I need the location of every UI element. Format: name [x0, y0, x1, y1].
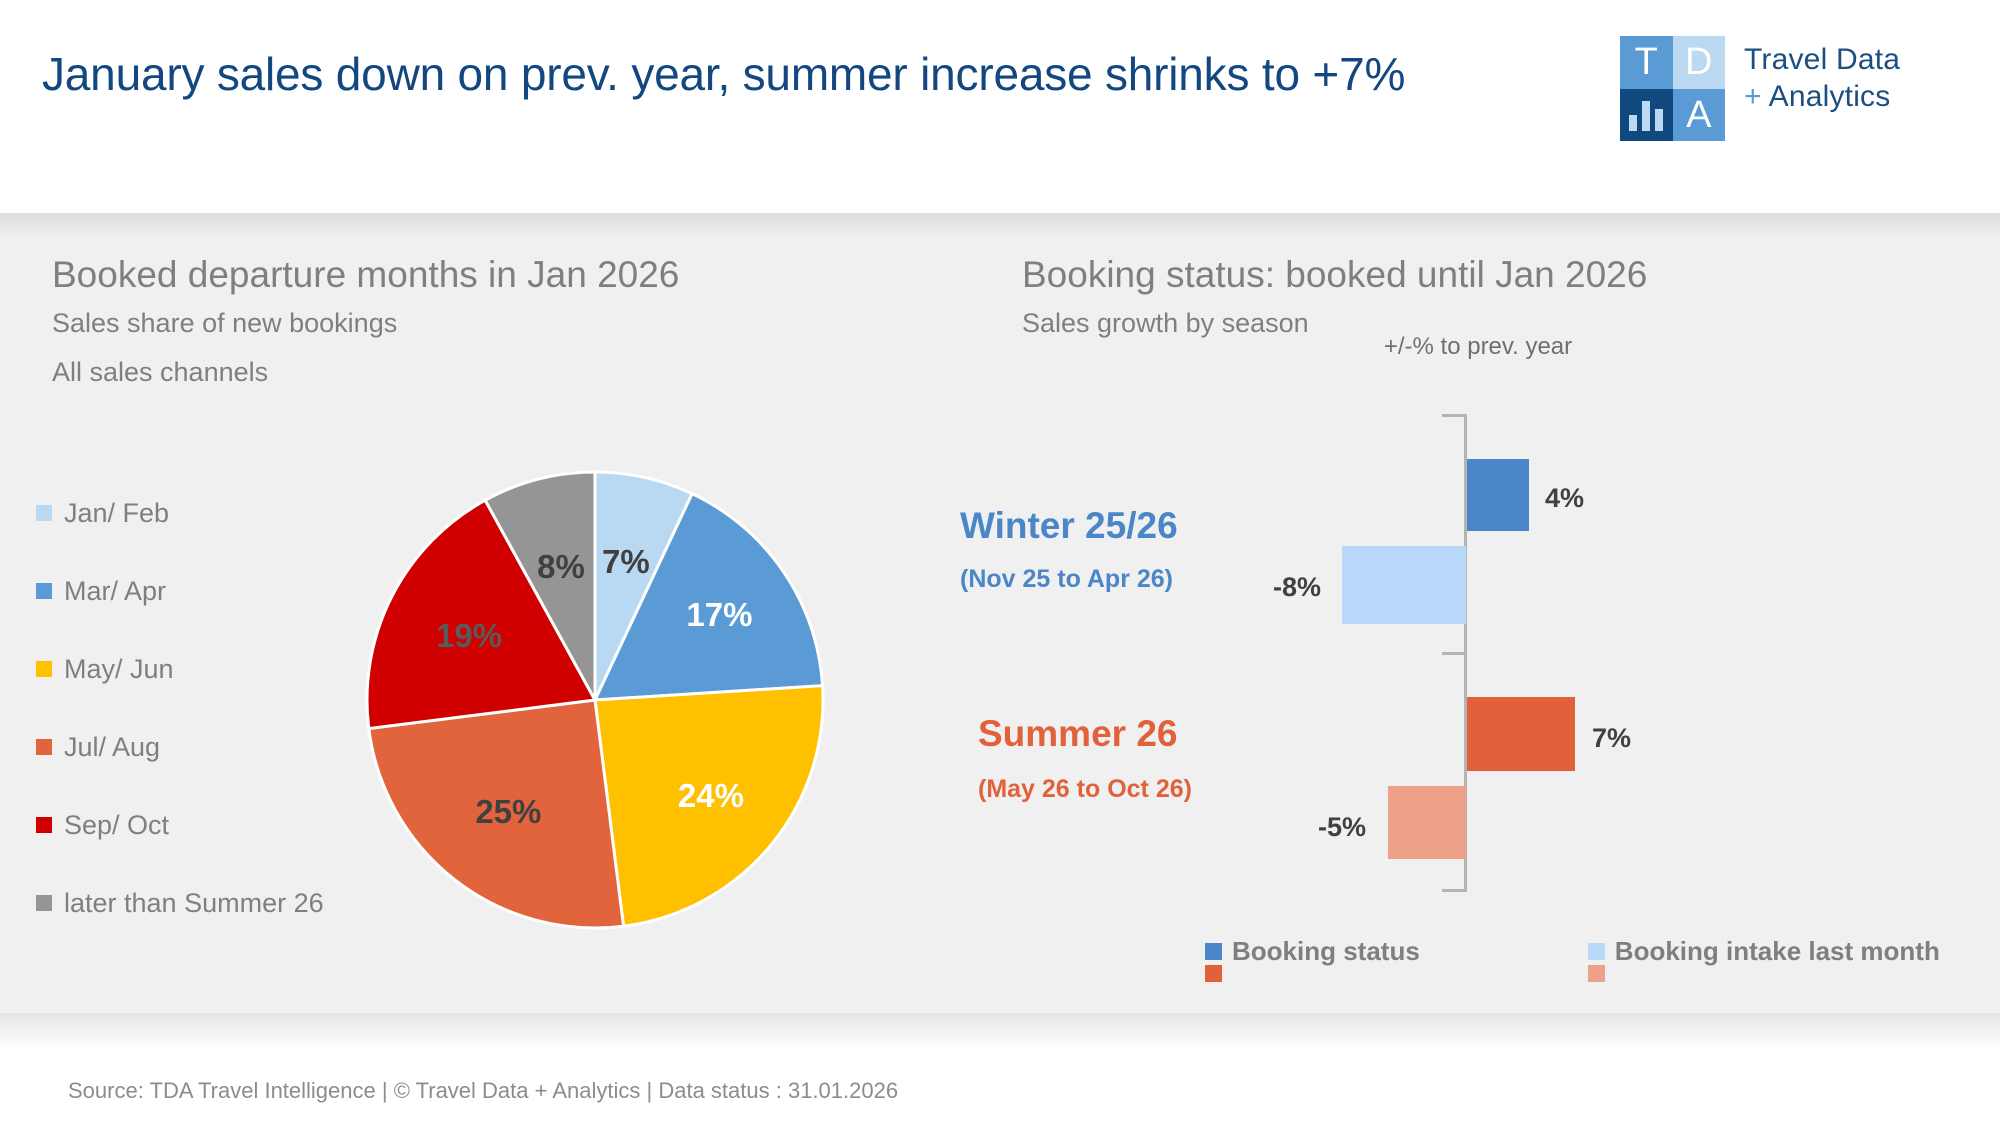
pie-slice-label: 25%: [475, 793, 541, 831]
bar-legend-item-intake-last-month[interactable]: Booking intake last month: [1588, 938, 1940, 982]
panel-top-shadow: [0, 213, 2000, 239]
page-header: January sales down on prev. year, summer…: [0, 0, 2000, 213]
pie-legend-item[interactable]: later than Summer 26: [36, 890, 324, 916]
season-label-summer: Summer 26: [978, 713, 1178, 755]
pie-legend-label: Sep/ Oct: [64, 812, 169, 839]
bar-legend-label: Booking status: [1232, 938, 1420, 965]
right-chart-title: Booking status: booked until Jan 2026: [1022, 254, 1647, 296]
legend-swatch-icon: [36, 505, 52, 521]
logo-cell-chart: [1620, 89, 1673, 142]
axis-tick-bottom: [1442, 889, 1464, 892]
legend-swatch-icon: [36, 661, 52, 677]
left-chart-subtitle-2: All sales channels: [52, 357, 268, 388]
pie-legend-label: May/ Jun: [64, 656, 174, 683]
right-chart-subtitle: Sales growth by season: [1022, 308, 1309, 339]
logo-line-2-text: Analytics: [1762, 80, 1891, 113]
bar-legend-label: Booking intake last month: [1615, 938, 1940, 965]
logo-cell-a: A: [1673, 89, 1726, 142]
axis-tick-middle: [1442, 652, 1464, 655]
logo-plus-sign: +: [1744, 80, 1762, 113]
pie-slice-label: 8%: [537, 548, 585, 586]
company-logo: T D A Travel Data + Analytics: [1620, 36, 1980, 146]
bar-winter-intake-last-month[interactable]: [1342, 546, 1466, 624]
bar-value-winter-booking-status: 4%: [1545, 483, 1584, 514]
pie-legend-item[interactable]: Sep/ Oct: [36, 812, 324, 838]
logo-letter-a: A: [1686, 96, 1711, 134]
pie-legend-item[interactable]: Jan/ Feb: [36, 500, 324, 526]
axis-unit-label: +/-% to prev. year: [1384, 333, 1572, 361]
pie-legend-label: Mar/ Apr: [64, 578, 166, 605]
legend-swatch-icon: [36, 583, 52, 599]
logo-tile-grid: T D A: [1620, 36, 1725, 141]
logo-letter-t: T: [1635, 43, 1658, 81]
pie-legend-item[interactable]: Jul/ Aug: [36, 734, 324, 760]
pie-slice-label: 7%: [602, 543, 650, 581]
pie-legend-label: Jul/ Aug: [64, 734, 160, 761]
axis-tick-top: [1442, 414, 1464, 417]
logo-cell-d: D: [1673, 36, 1726, 89]
bar-legend-item-booking-status[interactable]: Booking status: [1205, 938, 1420, 982]
logo-letter-d: D: [1685, 43, 1712, 81]
pie-legend-item[interactable]: May/ Jun: [36, 656, 324, 682]
pie-slice-label: 24%: [678, 777, 744, 815]
bar-summer-booking-status[interactable]: [1467, 697, 1575, 771]
bar-winter-booking-status[interactable]: [1467, 459, 1529, 531]
bar-summer-intake-last-month[interactable]: [1388, 786, 1466, 859]
bar-value-winter-intake-last-month: -8%: [1273, 572, 1321, 603]
legend-swatch-icon: [36, 739, 52, 755]
pie-slice-label: 17%: [686, 596, 752, 634]
season-range-winter: (Nov 25 to Apr 26): [960, 565, 1173, 594]
legend-swatch-icon: [36, 895, 52, 911]
pie-legend-label: Jan/ Feb: [64, 500, 169, 527]
left-chart-title: Booked departure months in Jan 2026: [52, 254, 679, 296]
legend-swatch-group-icon: [1588, 943, 1605, 982]
left-chart-subtitle-1: Sales share of new bookings: [52, 308, 397, 339]
logo-line-2: + Analytics: [1744, 79, 1900, 116]
page-title: January sales down on prev. year, summer…: [42, 48, 1442, 101]
panel-bottom-shadow: [0, 1013, 2000, 1049]
pie-chart: 7% 17% 24% 25% 19% 8%: [365, 470, 825, 930]
pie-legend-label: later than Summer 26: [64, 890, 324, 917]
pie-slice-label: 19%: [436, 617, 502, 655]
bar-value-summer-booking-status: 7%: [1592, 723, 1631, 754]
season-range-summer: (May 26 to Oct 26): [978, 775, 1192, 804]
bar-chart-icon: [1629, 99, 1663, 131]
logo-wordmark: Travel Data + Analytics: [1744, 42, 1900, 115]
pie-legend: Jan/ Feb Mar/ Apr May/ Jun Jul/ Aug Sep/…: [36, 500, 324, 968]
bar-value-summer-intake-last-month: -5%: [1318, 812, 1366, 843]
pie-legend-item[interactable]: Mar/ Apr: [36, 578, 324, 604]
bar-chart-legend: Booking status Booking intake last month: [1205, 938, 1988, 982]
logo-line-1: Travel Data: [1744, 42, 1900, 79]
pie-svg: [365, 470, 825, 930]
logo-cell-t: T: [1620, 36, 1673, 89]
legend-swatch-icon: [36, 817, 52, 833]
legend-swatch-group-icon: [1205, 943, 1222, 982]
season-label-winter: Winter 25/26: [960, 505, 1178, 547]
footer-source-text: Source: TDA Travel Intelligence | © Trav…: [68, 1078, 898, 1104]
